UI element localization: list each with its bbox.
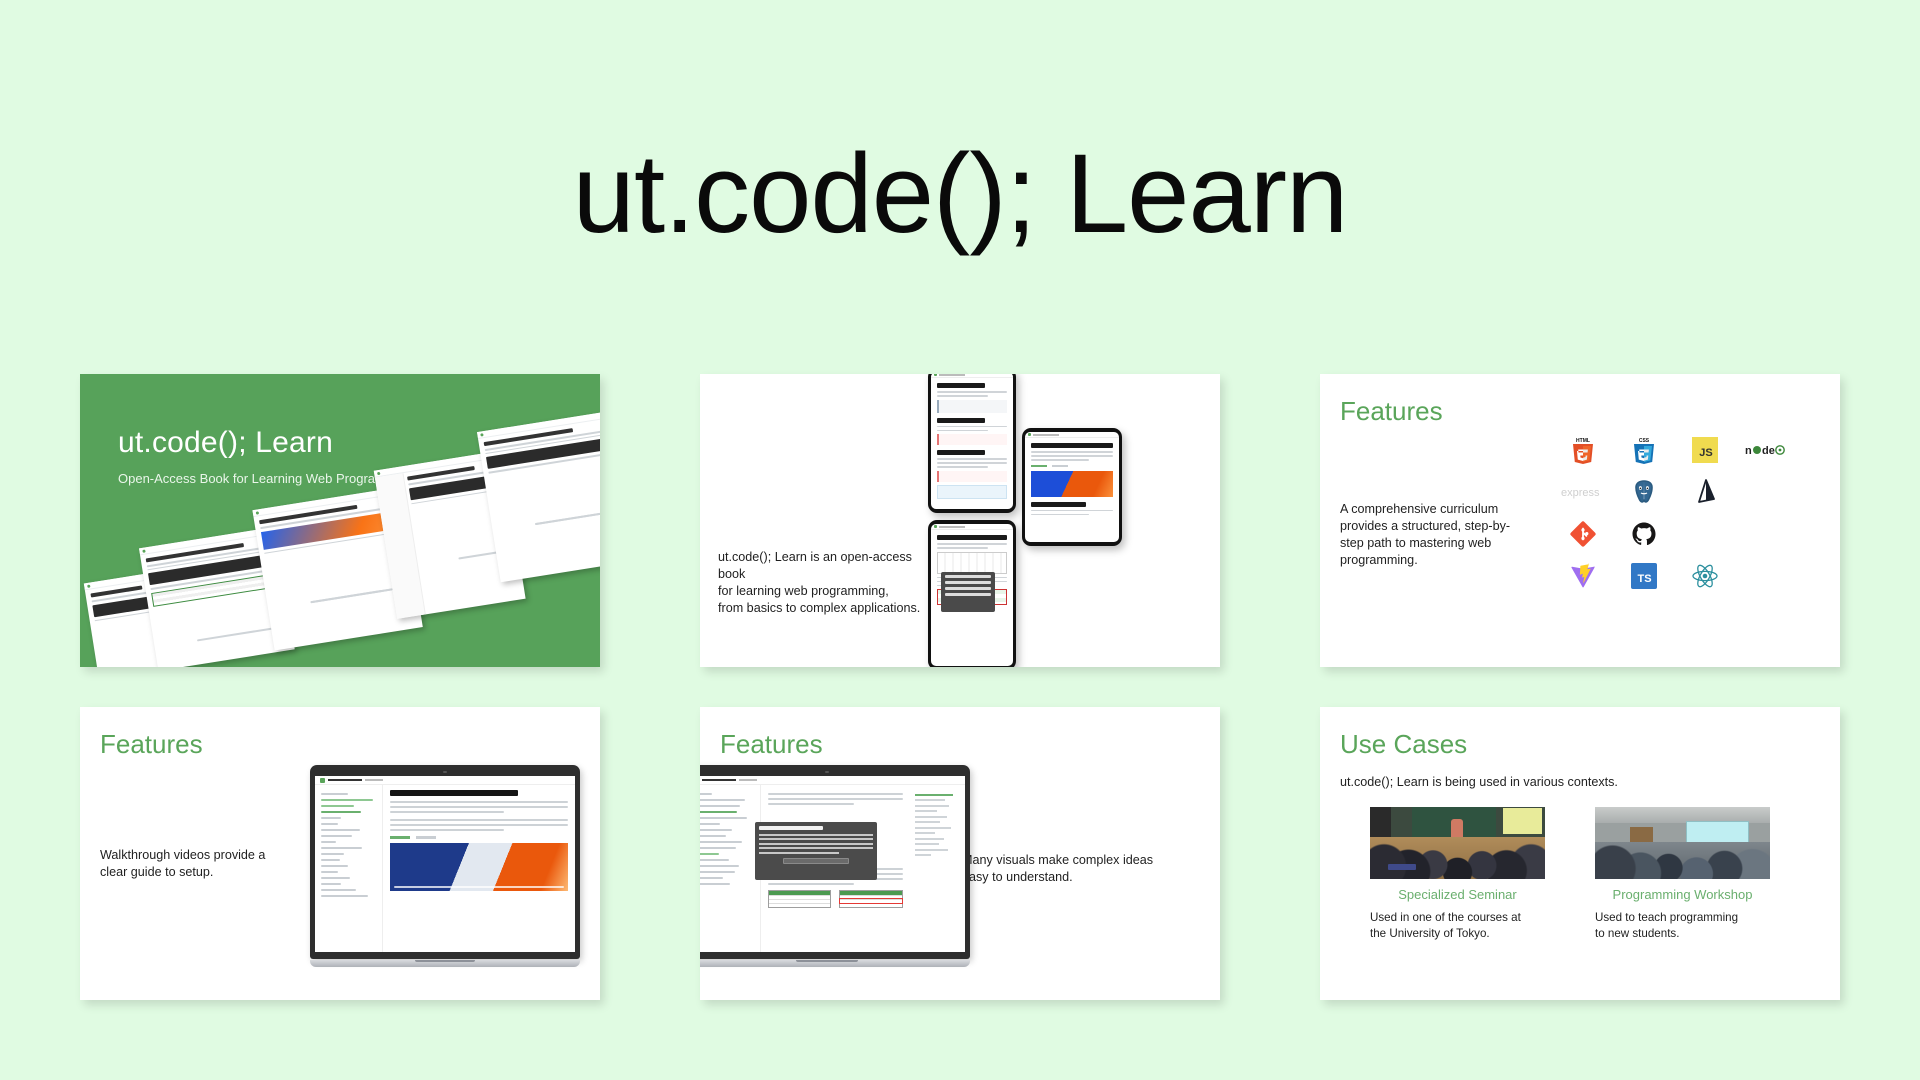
javascript-logo: JS: [1682, 434, 1727, 466]
logo-empty-slot: [1743, 518, 1788, 550]
github-logo: [1621, 518, 1666, 550]
laptop-mockup: [700, 765, 970, 967]
typescript-logo: TS: [1621, 560, 1666, 592]
svg-text:CSS: CSS: [1638, 438, 1649, 444]
slide-title: ut.code(); Learn: [118, 426, 333, 460]
use-case-text: Used in one of the courses at the Univer…: [1370, 910, 1545, 941]
card-heading: Use Cases: [1340, 729, 1467, 760]
intro-body: ut.code(); Learn is an open-access book …: [718, 549, 928, 617]
use-case-caption: Programming Workshop: [1595, 887, 1770, 902]
laptop-lid: [700, 765, 970, 959]
use-case-list: Specialized Seminar Used in one of the c…: [1370, 807, 1810, 941]
page-title: ut.code(); Learn: [0, 132, 1920, 255]
docs-page-preview: [700, 776, 965, 952]
card-title-slide[interactable]: ut.code(); Learn Open-Access Book for Le…: [80, 374, 600, 667]
card-features-curriculum[interactable]: Features A comprehensive curriculum prov…: [1320, 374, 1840, 667]
logo-empty-slot: [1682, 518, 1727, 550]
laptop-camera: [443, 771, 447, 773]
card-use-cases[interactable]: Use Cases ut.code(); Learn is being used…: [1320, 707, 1840, 1000]
card-grid: ut.code(); Learn Open-Access Book for Le…: [80, 374, 1840, 1000]
use-case-text: Used to teach programming to new student…: [1595, 910, 1770, 941]
tech-logo-grid: HTML CSS JS nde express: [1560, 434, 1820, 592]
use-case-item: Programming Workshop Used to teach progr…: [1595, 807, 1770, 941]
use-cases-lead: ut.code(); Learn is being used in variou…: [1340, 775, 1618, 789]
svg-text:HTML: HTML: [1576, 438, 1590, 444]
laptop-base: [700, 960, 970, 967]
html5-logo: HTML: [1560, 434, 1605, 466]
use-case-item: Specialized Seminar Used in one of the c…: [1370, 807, 1545, 941]
svg-text:n: n: [1745, 445, 1752, 457]
css3-logo: CSS: [1621, 434, 1666, 466]
phone-screen: [931, 524, 1013, 666]
laptop-base: [310, 960, 580, 967]
react-logo: [1682, 560, 1727, 592]
card-body: Many visuals make complex ideas easy to …: [962, 852, 1172, 886]
laptop-screen: [700, 776, 965, 952]
vite-logo: [1560, 560, 1605, 592]
postgresql-logo: [1621, 476, 1666, 508]
card-features-visuals[interactable]: Features Many visuals make complex ideas…: [700, 707, 1220, 1000]
svg-text:TS: TS: [1637, 573, 1651, 585]
phone-mockup-back: [928, 374, 1016, 513]
nodejs-logo: nde: [1743, 434, 1788, 466]
git-logo: [1560, 518, 1605, 550]
docs-page-preview: [315, 776, 575, 952]
phone-screen: [931, 374, 1013, 509]
laptop-camera: [825, 771, 829, 773]
seminar-photo: [1370, 807, 1545, 879]
logo-empty-slot: [1743, 476, 1788, 508]
card-body: A comprehensive curriculum provides a st…: [1340, 501, 1530, 569]
laptop-screen: [315, 776, 575, 952]
svg-text:JS: JS: [1699, 447, 1712, 459]
laptop-mockup: [310, 765, 580, 967]
card-features-videos[interactable]: Features Walkthrough videos provide a cl…: [80, 707, 600, 1000]
card-heading: Features: [720, 729, 823, 760]
phone-mockup-lower: [928, 520, 1016, 667]
phone-screen: [1025, 432, 1119, 542]
laptop-lid: [310, 765, 580, 959]
workshop-photo: [1595, 807, 1770, 879]
svg-text:de: de: [1762, 445, 1775, 457]
card-intro-slide[interactable]: ut.code(); Learn is an open-access book …: [700, 374, 1220, 667]
phone-mockup-front: [1022, 428, 1122, 546]
express-logo: express: [1560, 476, 1605, 508]
card-body: Walkthrough videos provide a clear guide…: [100, 847, 300, 881]
page-root: ut.code(); Learn ut.code(); Learn Open-A…: [0, 0, 1920, 1080]
card-heading: Features: [100, 729, 203, 760]
use-case-caption: Specialized Seminar: [1370, 887, 1545, 902]
svg-text:express: express: [1561, 487, 1600, 499]
prisma-logo: [1682, 476, 1727, 508]
card-heading: Features: [1340, 396, 1443, 427]
